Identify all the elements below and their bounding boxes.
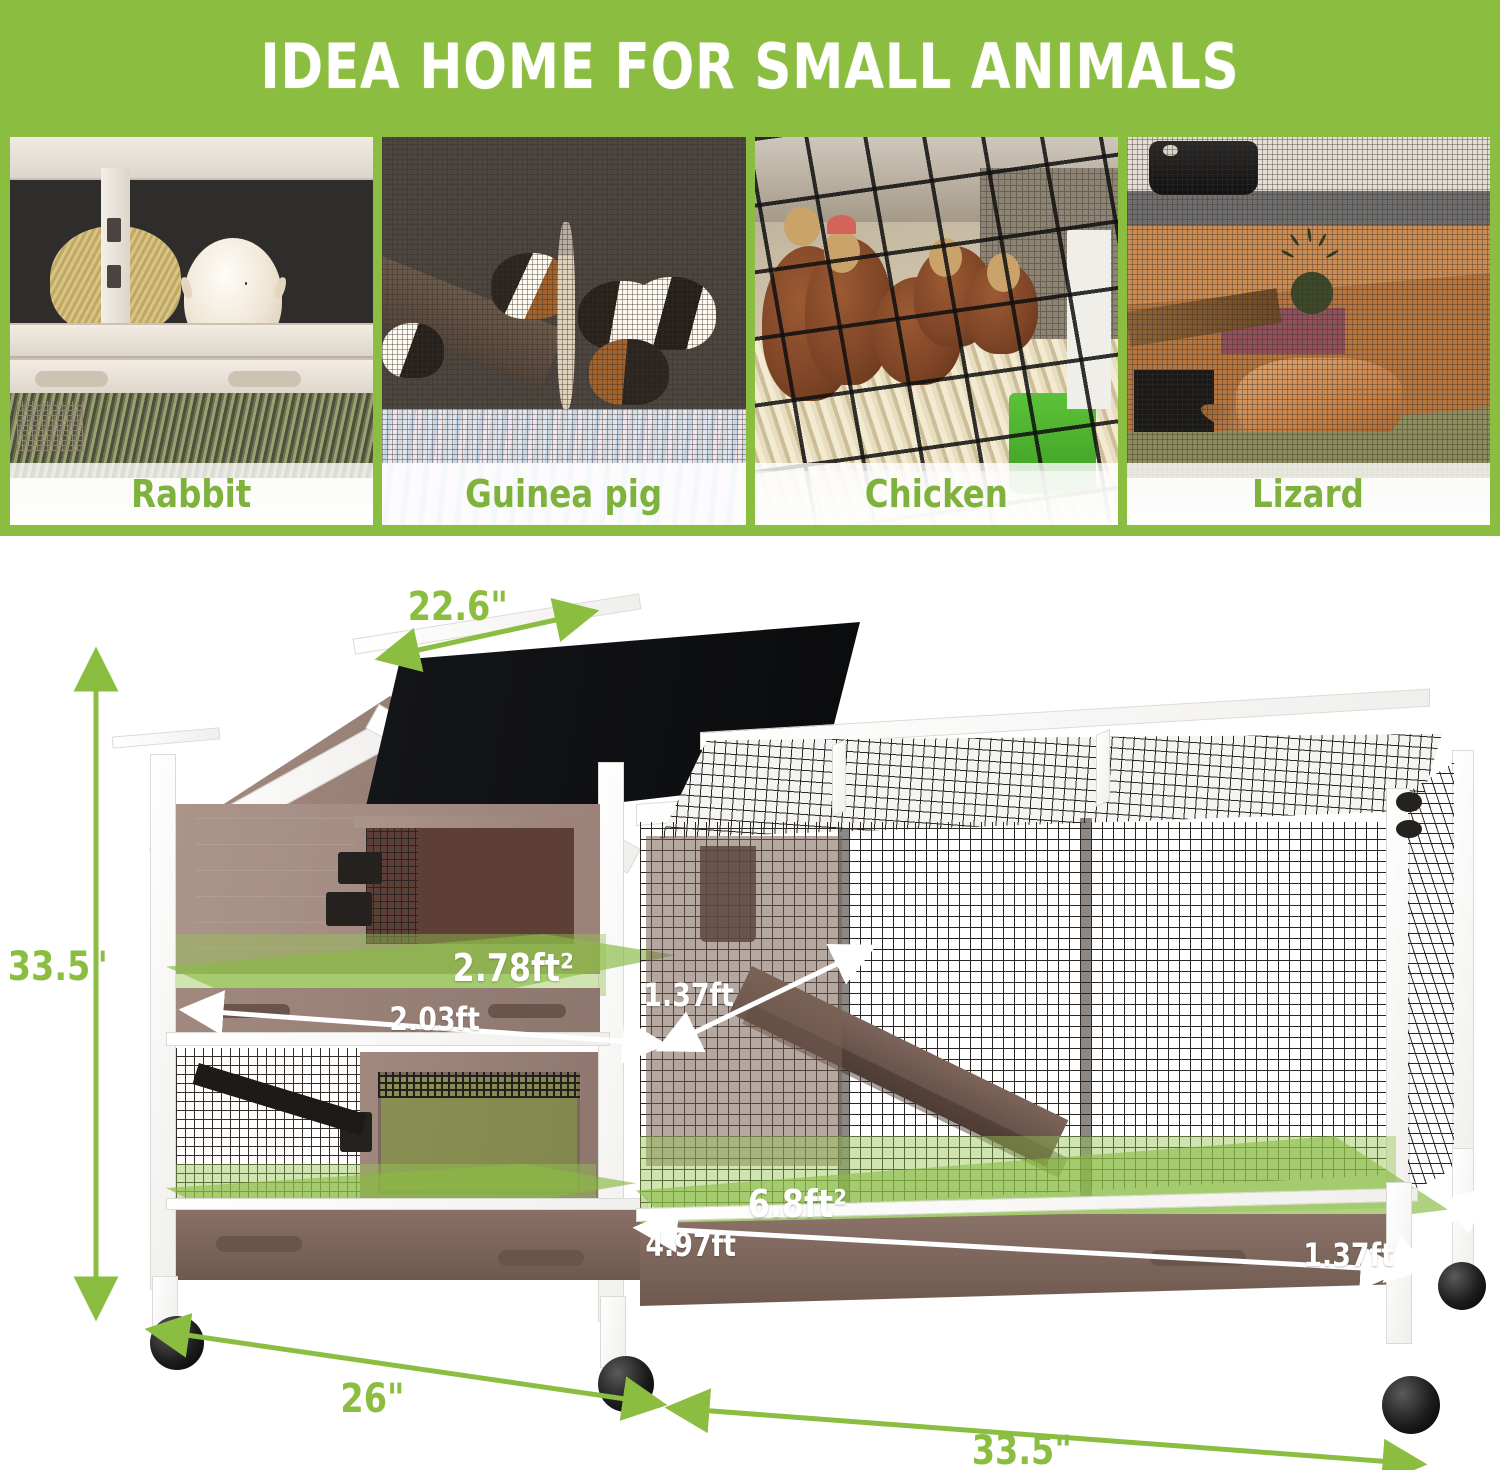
dimension-label-hutch-width: 26" <box>340 1376 404 1422</box>
photo-caption-rabbit: Rabbit <box>10 463 373 525</box>
area-label-upper-deck-width: 2.03ft <box>389 1000 480 1038</box>
photo-caption-chicken: Chicken <box>755 463 1118 525</box>
photo-caption-guinea-pig: Guinea pig <box>382 463 745 525</box>
dimension-label-roof-depth: 22.6" <box>408 584 508 630</box>
dimension-label-overall-width: 33.5" <box>972 1428 1072 1474</box>
animal-photo-strip: Rabbit Guinea pig <box>10 137 1490 525</box>
area-label-lower-run-width: 4.97ft <box>645 1226 736 1264</box>
photo-card-guinea-pig: Guinea pig <box>382 137 745 525</box>
photo-card-chicken: Chicken <box>755 137 1118 525</box>
page-title: IDEA HOME FOR SMALL ANIMALS <box>60 30 1440 103</box>
photo-label-chicken: Chicken <box>865 472 1008 516</box>
area-label-lower-run: 6.8ft² <box>748 1182 847 1226</box>
photo-label-guinea-pig: Guinea pig <box>465 472 662 516</box>
area-label-lower-run-depth: 1.37ft <box>1303 1236 1394 1274</box>
dimension-arrow-overlay <box>0 536 1500 1470</box>
photo-caption-lizard: Lizard <box>1127 463 1490 525</box>
photo-card-rabbit: Rabbit <box>10 137 373 525</box>
photo-card-lizard: Lizard <box>1127 137 1490 525</box>
dimension-label-overall-height: 33.5" <box>8 944 108 990</box>
product-dimension-diagram: 22.6" 33.5" 26" 33.5" 2.78ft² 2.03ft 1.3… <box>0 536 1500 1470</box>
area-label-upper-deck-depth: 1.37ft <box>643 976 734 1014</box>
photo-label-lizard: Lizard <box>1252 472 1364 516</box>
header-banner: IDEA HOME FOR SMALL ANIMALS <box>0 0 1500 536</box>
area-label-upper-deck: 2.78ft² <box>453 946 574 990</box>
photo-label-rabbit: Rabbit <box>132 472 252 516</box>
